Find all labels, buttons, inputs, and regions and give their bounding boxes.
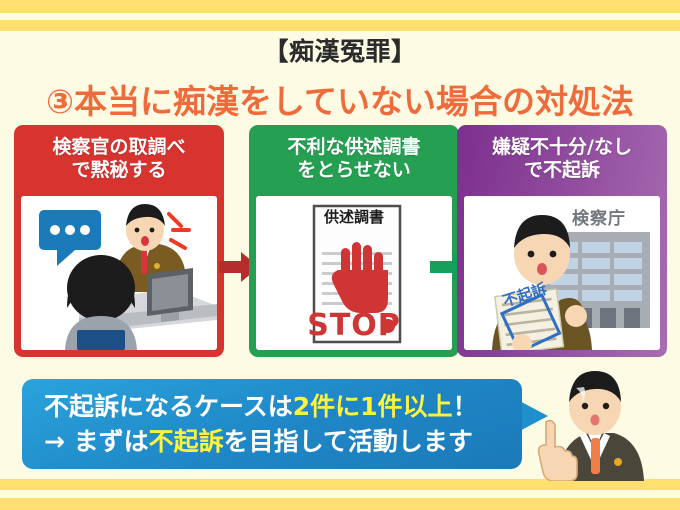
callout-line1-part1: 不起訴になるケースは (44, 392, 293, 421)
callout-line-1: 不起訴になるケースは2件に1件以上！ (44, 389, 522, 425)
step-card-1-title-line2: で黙秘する (71, 159, 166, 182)
document-title: 供述調書 (256, 206, 452, 227)
top-stripe-outer (0, 0, 680, 13)
step-card-1-illustration (21, 196, 217, 350)
step-card-2-title-line1: 不利な供述調書 (287, 136, 420, 159)
document-stop-label: STOP (256, 308, 452, 343)
step-card-2-illustration: 供述調書 STOP (256, 196, 452, 350)
step-card-3-title-line2: で不起訴 (524, 159, 600, 182)
summary-callout: 不起訴になるケースは2件に1件以上！ → まずは不起訴を目指して活動します (22, 379, 522, 469)
page-title: ③本当に痴漢をしていない場合の対処法 (0, 75, 680, 123)
building-label: 検察庁 (572, 204, 626, 229)
step-card-3-header: 嫌疑不十分/なし で不起訴 (457, 125, 667, 193)
callout-line1-part2: ！ (453, 392, 478, 421)
callout-line-2: → まずは不起訴を目指して活動します (44, 424, 522, 460)
callout-line2-part2: を目指して活動します (224, 427, 473, 456)
bracket-title: 【痴漢冤罪】 (0, 32, 680, 68)
step-card-2[interactable]: 不利な供述調書 をとらせない (249, 125, 459, 357)
lawyer-character (524, 366, 674, 481)
lawyer-pointing-up-icon (524, 366, 674, 481)
step-card-3[interactable]: 嫌疑不十分/なし で不起訴 (457, 125, 667, 357)
callout-line2-part1: → まずは (44, 427, 149, 456)
infographic-canvas: 【痴漢冤罪】 ③本当に痴漢をしていない場合の対処法 検察官の取調べ で黙秘する (0, 0, 680, 510)
step-card-2-header: 不利な供述調書 をとらせない (249, 125, 459, 193)
prosecutors-office-man-icon (464, 196, 660, 350)
callout-line2-highlight: 不起訴 (149, 427, 224, 456)
step-card-3-title-line1: 嫌疑不十分/なし (492, 136, 632, 159)
callout-line1-highlight: 2件に1件以上 (293, 392, 453, 421)
interrogation-scene-icon (21, 196, 217, 350)
step-card-1-title-line1: 検察官の取調べ (52, 136, 185, 159)
step-card-1-header: 検察官の取調べ で黙秘する (14, 125, 224, 193)
top-stripe-inner (0, 20, 680, 31)
step-card-1[interactable]: 検察官の取調べ で黙秘する (14, 125, 224, 357)
bottom-stripe-outer (0, 498, 680, 510)
step-card-3-illustration: 検察庁 不起訴 (464, 196, 660, 350)
step-card-2-title-line2: をとらせない (297, 159, 411, 182)
